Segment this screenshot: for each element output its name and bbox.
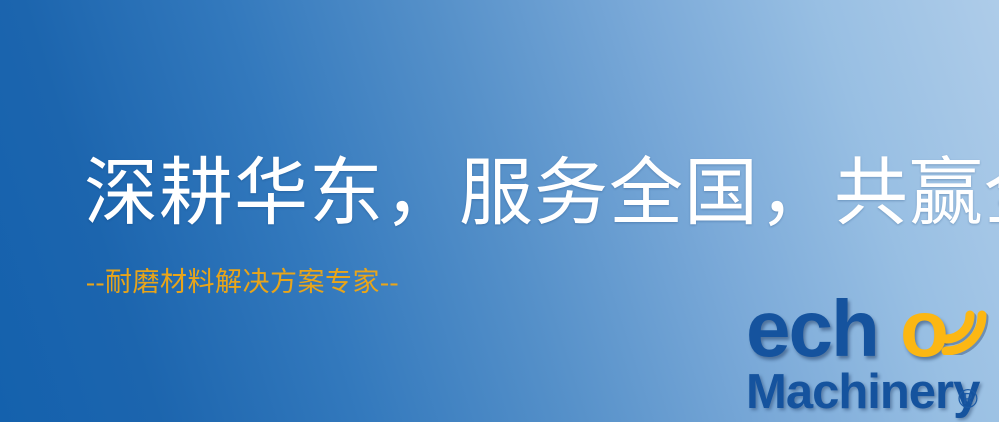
banner-headline: 深耕华东，服务全国，共赢全球 <box>84 150 999 238</box>
registered-trademark-icon: ® <box>958 386 978 413</box>
banner-subtitle: --耐磨材料解决方案专家-- <box>86 266 399 298</box>
company-logo[interactable]: ech o Machinery ® <box>744 294 999 422</box>
signal-waves-icon <box>936 293 999 355</box>
promotional-banner: 深耕华东，服务全国，共赢全球 --耐磨材料解决方案专家-- ech o Mach… <box>0 0 999 422</box>
logo-wordmark-primary: ech <box>746 290 878 368</box>
logo-tagline: Machinery <box>746 366 979 418</box>
